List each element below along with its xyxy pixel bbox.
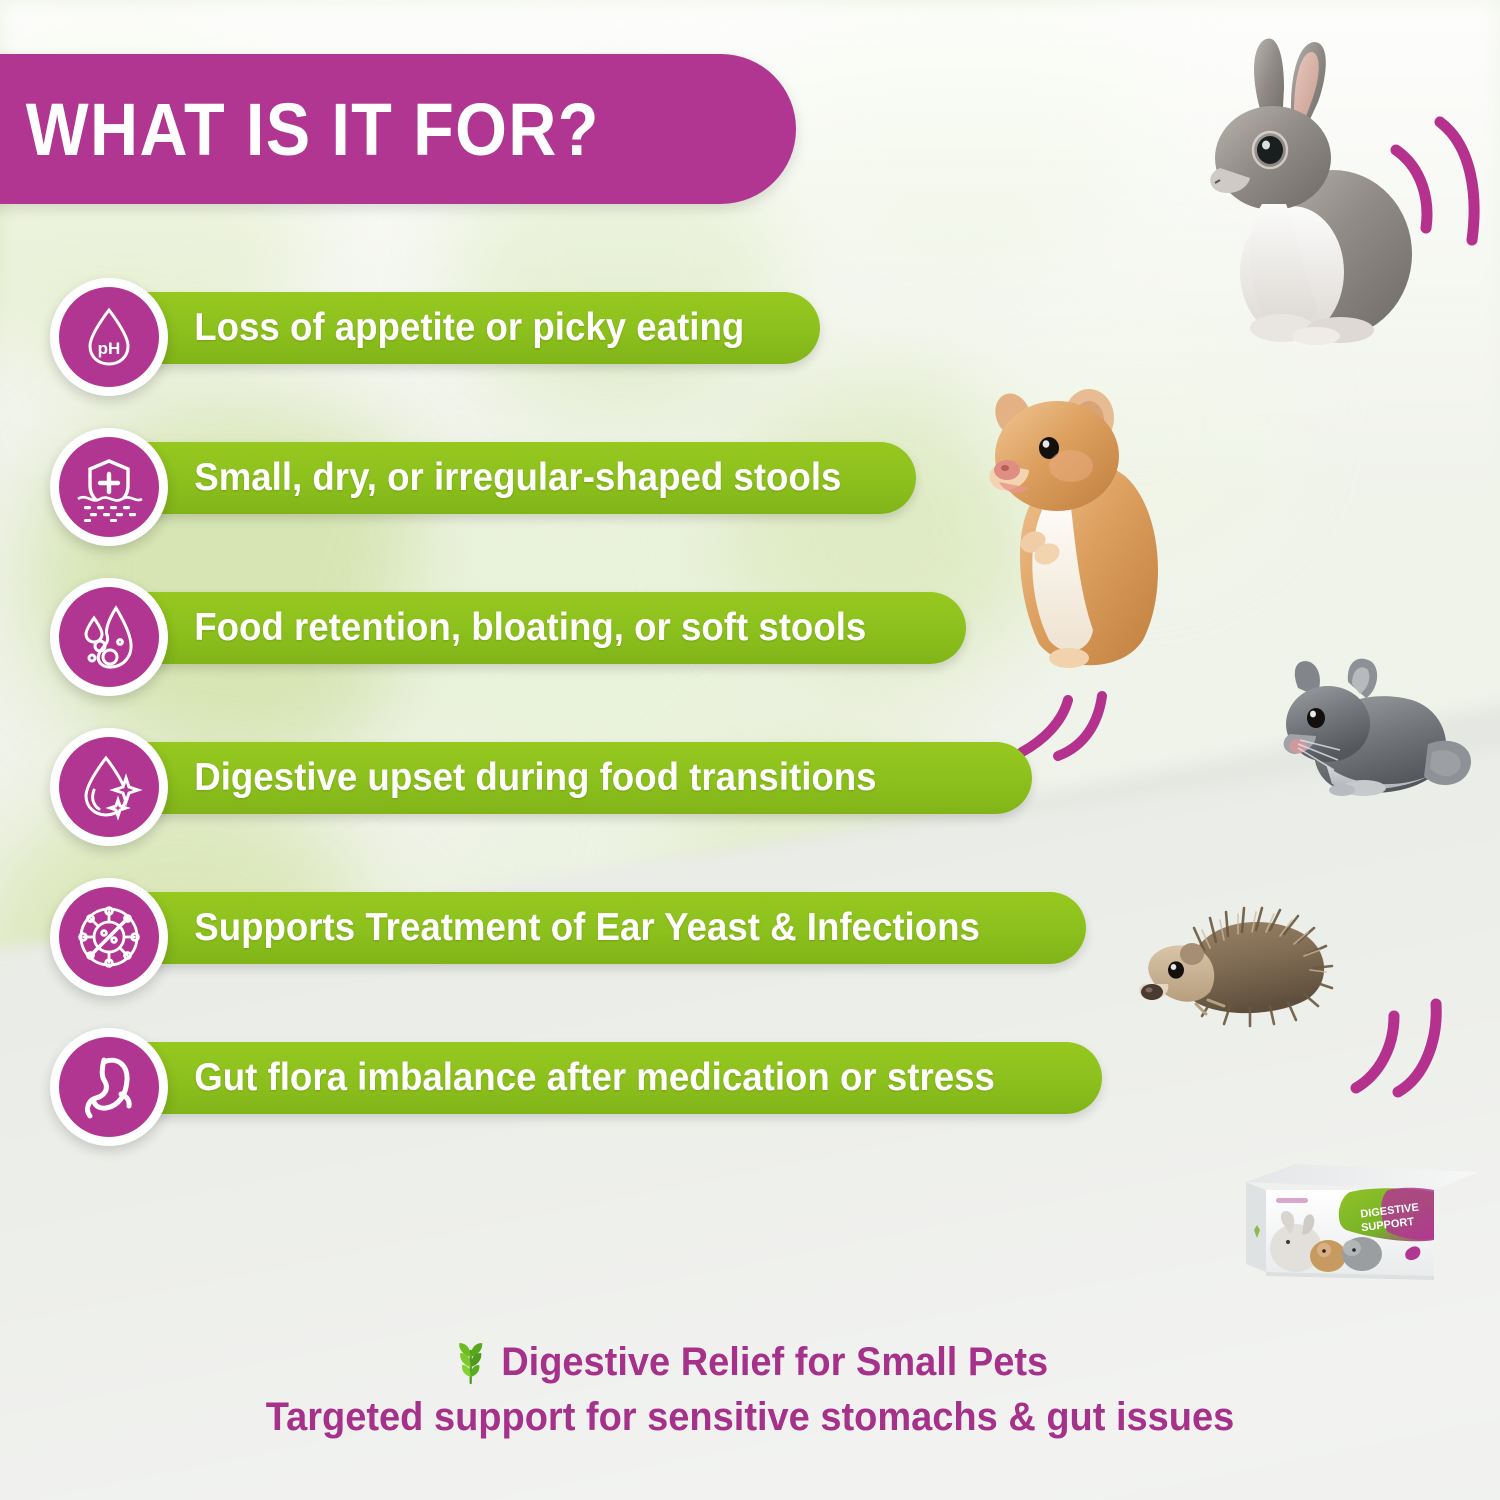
feature-label: Food retention, bloating, or soft stools bbox=[104, 606, 898, 650]
feature-pill[interactable]: Small, dry, or irregular-shaped stools bbox=[104, 442, 916, 514]
feature-pill[interactable]: Food retention, bloating, or soft stools bbox=[104, 592, 966, 664]
feature-icon-badge bbox=[50, 1028, 168, 1146]
feature-label: Digestive upset during food transitions bbox=[104, 756, 909, 800]
feature-list: Loss of appetite or picky eating pH Smal… bbox=[0, 278, 1150, 1178]
svg-text:pH: pH bbox=[98, 339, 121, 358]
hedgehog-photo bbox=[1128, 898, 1343, 1033]
stomach-icon bbox=[59, 1037, 159, 1137]
leaf-sprig-icon bbox=[452, 1341, 490, 1385]
feature-icon-badge bbox=[50, 728, 168, 846]
feature-row[interactable]: Loss of appetite or picky eating pH bbox=[0, 278, 1150, 428]
header-banner: WHAT IS IT FOR? bbox=[0, 54, 796, 204]
feature-label: Loss of appetite or picky eating bbox=[104, 306, 776, 350]
feature-row[interactable]: Small, dry, or irregular-shaped stools bbox=[0, 428, 1150, 578]
footer-tagline: Digestive Relief for Small Pets Targeted… bbox=[0, 1340, 1500, 1440]
feature-label: Supports Treatment of Ear Yeast & Infect… bbox=[104, 906, 1012, 950]
feature-row[interactable]: Gut flora imbalance after medication or … bbox=[0, 1028, 1150, 1178]
chinchilla-photo bbox=[1272, 648, 1487, 823]
feature-icon-badge bbox=[50, 878, 168, 996]
ph-droplet-icon: pH bbox=[59, 287, 159, 387]
droplet-bubbles-icon bbox=[59, 587, 159, 687]
feature-pill[interactable]: Supports Treatment of Ear Yeast & Infect… bbox=[104, 892, 1086, 964]
feature-label: Gut flora imbalance after medication or … bbox=[104, 1056, 1027, 1100]
shield-plus-skin-icon bbox=[59, 437, 159, 537]
feature-icon-badge bbox=[50, 428, 168, 546]
hedgehog-sound-waves-icon bbox=[1340, 966, 1450, 1106]
droplet-sparkle-icon bbox=[59, 737, 159, 837]
feature-icon-badge: pH bbox=[50, 278, 168, 396]
feature-icon-badge bbox=[50, 578, 168, 696]
footer-line-1-wrap: Digestive Relief for Small Pets bbox=[38, 1340, 1463, 1385]
page-title: WHAT IS IT FOR? bbox=[0, 87, 600, 172]
no-germ-icon bbox=[59, 887, 159, 987]
feature-pill[interactable]: Gut flora imbalance after medication or … bbox=[104, 1042, 1102, 1114]
rabbit-sound-waves-icon bbox=[1378, 100, 1488, 260]
feature-row[interactable]: Food retention, bloating, or soft stools bbox=[0, 578, 1150, 728]
footer-line-2: Targeted support for sensitive stomachs … bbox=[38, 1395, 1463, 1440]
feature-row[interactable]: Supports Treatment of Ear Yeast & Infect… bbox=[0, 878, 1150, 1028]
feature-row[interactable]: Digestive upset during food transitions bbox=[0, 728, 1150, 878]
digestive-support-box: DIGESTIVE SUPPORT bbox=[1238, 1152, 1488, 1297]
feature-pill[interactable]: Loss of appetite or picky eating bbox=[104, 292, 820, 364]
feature-label: Small, dry, or irregular-shaped stools bbox=[104, 456, 873, 500]
feature-pill[interactable]: Digestive upset during food transitions bbox=[104, 742, 1032, 814]
footer-line-1: Digestive Relief for Small Pets bbox=[501, 1340, 1048, 1385]
